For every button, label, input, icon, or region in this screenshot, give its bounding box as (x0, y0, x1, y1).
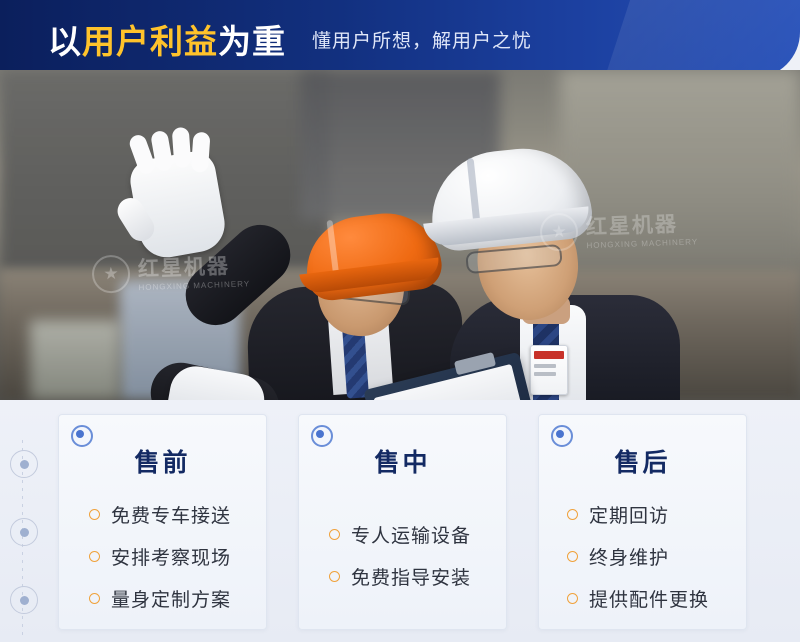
glove-finger (172, 127, 192, 168)
header-title: 以用户利益为重 (48, 15, 286, 63)
bullet-icon (567, 551, 578, 562)
bullet-icon (567, 509, 578, 520)
list-item: 免费专车接送 (89, 493, 231, 535)
list-item-label: 免费专车接送 (111, 501, 231, 528)
card-item-list: 专人运输设备 免费指导安装 (329, 513, 471, 597)
eye-icon (10, 450, 38, 478)
card-item-list: 定期回访 终身维护 提供配件更换 (567, 493, 709, 619)
list-item: 终身维护 (567, 535, 709, 577)
watermark-brand-cn: 红星机器 (586, 213, 679, 239)
bullet-icon (89, 593, 100, 604)
list-item-label: 提供配件更换 (589, 585, 709, 612)
watermark-brand-cn: 红星机器 (138, 255, 231, 281)
header-title-highlight: 用户利益 (82, 23, 218, 60)
decorative-left-column (10, 440, 40, 610)
bullet-icon (329, 529, 340, 540)
list-item: 定期回访 (567, 493, 709, 535)
bullet-icon (89, 551, 100, 562)
card-title: 售前 (59, 443, 266, 479)
watermark-text: 红星机器 HONGXING MACHINERY (137, 249, 250, 292)
star-icon: ★ (91, 254, 130, 293)
card-title: 售后 (539, 443, 746, 479)
site-photo: ★ ★ 红星机器 HONGXING MACHINERY ★ 红星机器 (0, 70, 800, 400)
glove-finger (191, 132, 211, 173)
list-item: 安排考察现场 (89, 535, 231, 577)
header-banner: 以用户利益为重 懂用户所想，解用户之忧 (0, 0, 800, 78)
employee-id-badge (530, 345, 568, 395)
bullet-icon (89, 509, 100, 520)
list-item: 专人运输设备 (329, 513, 471, 555)
list-item-label: 免费指导安装 (351, 563, 471, 590)
list-item-label: 安排考察现场 (111, 543, 231, 570)
service-cards-section: ★ 红星机器 HONGXING MACHINERY 售前 免费专车接送 安排考察… (0, 400, 800, 642)
card-pre-sales[interactable]: 售前 免费专车接送 安排考察现场 量身定制方案 (58, 414, 267, 630)
card-item-list: 免费专车接送 安排考察现场 量身定制方案 (89, 493, 231, 619)
header-title-part2: 为重 (218, 23, 286, 60)
photo-background-equipment-2 (30, 320, 120, 400)
eye-icon (10, 518, 38, 546)
list-item: 提供配件更换 (567, 577, 709, 619)
card-during-sales[interactable]: 售中 专人运输设备 免费指导安装 (298, 414, 507, 630)
promo-banner-page: 以用户利益为重 懂用户所想，解用户之忧 ★ (0, 0, 800, 642)
watermark-text: 红星机器 HONGXING MACHINERY (585, 207, 698, 250)
star-icon: ★ (539, 212, 578, 251)
list-item-label: 定期回访 (589, 501, 669, 528)
list-item-label: 量身定制方案 (111, 585, 231, 612)
list-item: 免费指导安装 (329, 555, 471, 597)
bullet-icon (329, 571, 340, 582)
list-item: 量身定制方案 (89, 577, 231, 619)
list-item-label: 终身维护 (589, 543, 669, 570)
bullet-icon (567, 593, 578, 604)
list-item-label: 专人运输设备 (351, 521, 471, 548)
card-after-sales[interactable]: 售后 定期回访 终身维护 提供配件更换 (538, 414, 747, 630)
card-title: 售中 (299, 443, 506, 479)
header-text-group: 以用户利益为重 懂用户所想，解用户之忧 (48, 0, 532, 78)
header-subtitle: 懂用户所想，解用户之忧 (312, 26, 532, 53)
watermark-logo: ★ 红星机器 HONGXING MACHINERY (91, 249, 250, 293)
header-title-part1: 以 (48, 23, 82, 60)
watermark-logo: ★ 红星机器 HONGXING MACHINERY (539, 207, 698, 251)
eye-icon (10, 586, 38, 614)
